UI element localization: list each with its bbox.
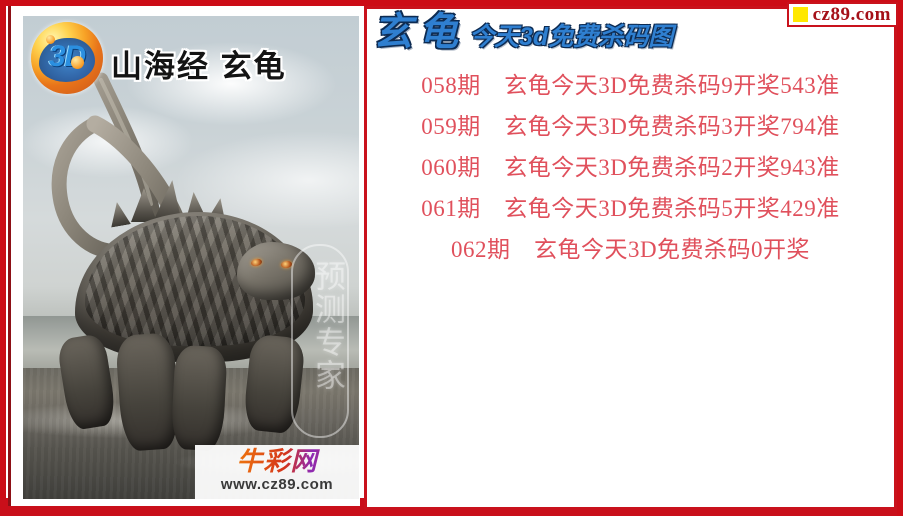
forecast-row-text: 059期 玄龟今天3D免费杀码3开奖794准 — [421, 113, 840, 140]
forecast-row[interactable]: 058期 玄龟今天3D免费杀码9开奖543准 — [367, 65, 894, 106]
picture-title: 山海经 玄龟 — [111, 50, 287, 84]
logo-3d-icon: 3D — [31, 22, 103, 94]
forecast-row[interactable]: 062期 玄龟今天3D免费杀码0开奖 — [367, 229, 894, 270]
cz89-badge[interactable]: cz89.com — [787, 2, 898, 27]
right-panel-headline: 玄龟 今天3d免费杀码图 — [373, 11, 673, 59]
niucai-brand-watermark: 牛彩网 www.cz89.com — [195, 445, 359, 499]
forecast-row[interactable]: 060期 玄龟今天3D免费杀码2开奖943准 — [367, 147, 894, 188]
picture-header: 3D 山海经 玄龟 — [23, 16, 359, 102]
right-content-card: 玄龟 今天3d免费杀码图 058期 玄龟今天3D免费杀码9开奖543准 059期… — [364, 6, 897, 510]
forecast-row-text: 062期 玄龟今天3D免费杀码0开奖 — [451, 236, 810, 263]
niucai-brand-name: 牛彩网 — [199, 446, 355, 476]
headline-main-text: 玄龟 — [373, 11, 465, 55]
niucai-brand-url: www.cz89.com — [195, 476, 359, 494]
turtle-leg — [115, 332, 181, 452]
picture-watermark-text: 预测专家 — [301, 260, 345, 392]
turtle-leg — [170, 345, 227, 452]
forecast-list: 058期 玄龟今天3D免费杀码9开奖543准 059期 玄龟今天3D免费杀码3开… — [367, 65, 894, 270]
forecast-row-text: 058期 玄龟今天3D免费杀码9开奖543准 — [421, 72, 840, 99]
forecast-row[interactable]: 059期 玄龟今天3D免费杀码3开奖794准 — [367, 106, 894, 147]
page-root: 预测专家 3D 山海经 玄龟 牛彩网 www.cz89.com 玄龟 今天3d免… — [0, 0, 903, 516]
mythical-turtle-image: 预测专家 3D 山海经 玄龟 牛彩网 www.cz89.com — [23, 16, 359, 499]
frame-band-right — [897, 0, 903, 516]
frame-band-left — [0, 0, 6, 498]
forecast-row-text: 060期 玄龟今天3D免费杀码2开奖943准 — [421, 154, 840, 181]
badge-label: cz89.com — [813, 4, 891, 25]
headline-sub-text: 今天3d免费杀码图 — [469, 23, 673, 51]
forecast-row-text: 061期 玄龟今天3D免费杀码5开奖429准 — [421, 195, 840, 222]
logo-3d-label: 3D — [31, 41, 103, 73]
left-picture-card: 预测专家 3D 山海经 玄龟 牛彩网 www.cz89.com — [8, 6, 360, 506]
forecast-row[interactable]: 061期 玄龟今天3D免费杀码5开奖429准 — [367, 188, 894, 229]
logo-spark-large — [71, 56, 84, 69]
badge-swatch-icon — [793, 7, 808, 22]
